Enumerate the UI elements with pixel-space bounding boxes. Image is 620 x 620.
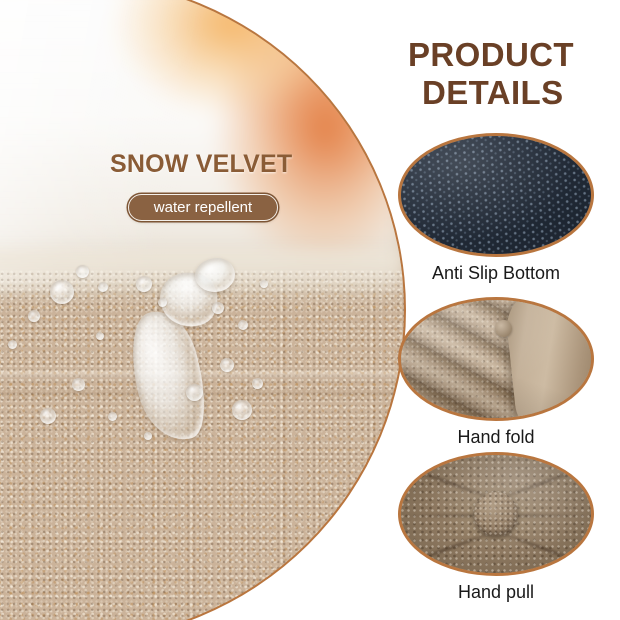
- detail-item-hand-fold: Hand fold: [398, 297, 620, 448]
- water-repellent-badge: water repellent: [128, 194, 278, 221]
- water-droplet: [50, 280, 74, 304]
- water-droplet: [220, 358, 234, 372]
- water-repellent-badge-label: water repellent: [154, 200, 252, 215]
- detail-item-hand-pull: Hand pull: [398, 452, 620, 603]
- anti-slip-highlight: [401, 136, 591, 254]
- water-droplet: [158, 298, 167, 307]
- water-droplet: [232, 400, 252, 420]
- hero-title: SNOW VELVET: [110, 150, 292, 179]
- water-droplet: [76, 265, 89, 278]
- water-droplet: [260, 280, 268, 288]
- water-droplet: [108, 412, 117, 421]
- hero-photo-content: [0, 0, 404, 620]
- anti-slip-bottom-swatch: [398, 133, 594, 257]
- water-splash-upper: [195, 258, 235, 292]
- page-title: PRODUCT DETAILS: [408, 36, 612, 113]
- water-droplet: [252, 378, 263, 389]
- cushion-seam-upper: [0, 370, 404, 379]
- detail-item-anti-slip-bottom: Anti Slip Bottom: [398, 133, 620, 284]
- hero-product-photo: [0, 0, 406, 620]
- water-droplet: [28, 310, 40, 322]
- hand-pull-highlight: [401, 455, 591, 573]
- water-droplet: [8, 340, 17, 349]
- water-droplet: [238, 320, 248, 330]
- hand-fold-shading: [401, 300, 591, 418]
- detail-caption-anti-slip-bottom: Anti Slip Bottom: [398, 264, 594, 284]
- product-detail-graphic: SNOW VELVET water repellent PRODUCT DETA…: [0, 0, 620, 620]
- page-title-line-2: DETAILS: [408, 74, 612, 112]
- hand-pull-swatch: [398, 452, 594, 576]
- water-droplet: [186, 384, 203, 401]
- hand-fold-swatch: [398, 297, 594, 421]
- water-droplet: [212, 302, 224, 314]
- detail-caption-hand-pull: Hand pull: [398, 583, 594, 603]
- water-droplet: [72, 378, 85, 391]
- detail-caption-hand-fold: Hand fold: [398, 428, 594, 448]
- page-title-line-1: PRODUCT: [408, 36, 574, 73]
- water-droplet: [144, 432, 152, 440]
- hero-background-highlight: [0, 0, 404, 290]
- water-droplet: [98, 282, 108, 292]
- water-droplet: [40, 408, 56, 424]
- water-droplet: [96, 332, 104, 340]
- water-droplet: [136, 276, 152, 292]
